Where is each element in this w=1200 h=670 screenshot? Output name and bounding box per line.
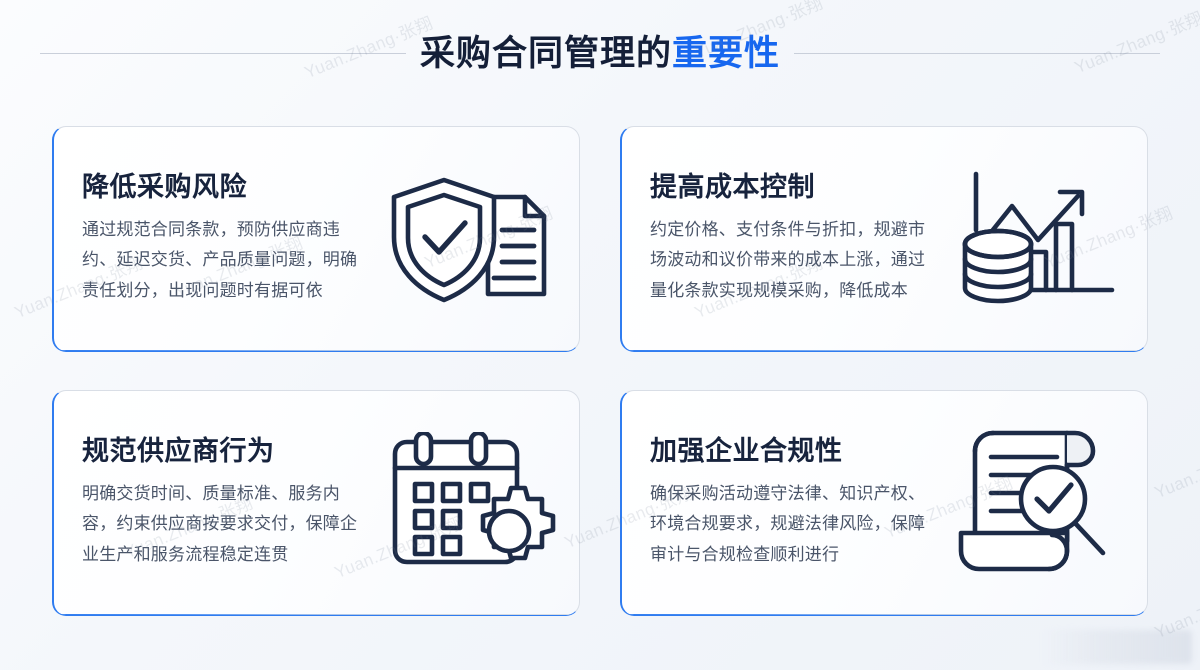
page-header: 采购合同管理的重要性: [0, 0, 1200, 106]
card-title: 提高成本控制: [650, 172, 926, 203]
corner-watermark-blur: [1042, 630, 1192, 664]
card-description: 明确交货时间、质量标准、服务内容，约束供应商按要求交付，保障企业生产和服务流程稳…: [82, 479, 358, 570]
coins-growth-chart-icon: [932, 127, 1147, 351]
page-title-accent: 重要性: [672, 34, 780, 73]
benefit-card-compliance[interactable]: 加强企业合规性 确保采购活动遵守法律、知识产权、环境合规要求，规避法律风险，保障…: [620, 390, 1148, 616]
scroll-magnifier-check-icon: [932, 391, 1147, 615]
benefit-card-grid: 降低采购风险 通过规范合同条款，预防供应商违约、延迟交货、产品质量问题，明确责任…: [52, 126, 1148, 616]
card-title: 规范供应商行为: [82, 436, 358, 467]
watermark-text: Yuan.Zhang·张翔: [1150, 569, 1200, 643]
card-description: 通过规范合同条款，预防供应商违约、延迟交货、产品质量问题，明确责任划分，出现问题…: [82, 215, 358, 306]
header-divider-left: [40, 53, 406, 54]
page-title-main: 采购合同管理的: [420, 34, 672, 73]
watermark-text: Yuan.Zhang·张翔: [1150, 429, 1200, 503]
card-title: 加强企业合规性: [650, 436, 926, 467]
card-text-block: 规范供应商行为 明确交货时间、质量标准、服务内容，约束供应商按要求交付，保障企业…: [54, 436, 364, 570]
card-text-block: 加强企业合规性 确保采购活动遵守法律、知识产权、环境合规要求，规避法律风险，保障…: [622, 436, 932, 570]
calendar-gear-icon: [364, 391, 579, 615]
header-divider-right: [794, 53, 1160, 54]
card-description: 确保采购活动遵守法律、知识产权、环境合规要求，规避法律风险，保障审计与合规检查顺…: [650, 479, 926, 570]
benefit-card-supplier-behavior[interactable]: 规范供应商行为 明确交货时间、质量标准、服务内容，约束供应商按要求交付，保障企业…: [52, 390, 580, 616]
card-description: 约定价格、支付条件与折扣，规避市场波动和议价带来的成本上涨，通过量化条款实现规模…: [650, 215, 926, 306]
card-title: 降低采购风险: [82, 172, 358, 203]
card-text-block: 提高成本控制 约定价格、支付条件与折扣，规避市场波动和议价带来的成本上涨，通过量…: [622, 172, 932, 306]
card-text-block: 降低采购风险 通过规范合同条款，预防供应商违约、延迟交货、产品质量问题，明确责任…: [54, 172, 364, 306]
page-title: 采购合同管理的重要性: [406, 36, 794, 71]
benefit-card-cost-control[interactable]: 提高成本控制 约定价格、支付条件与折扣，规避市场波动和议价带来的成本上涨，通过量…: [620, 126, 1148, 352]
shield-check-document-icon: [364, 127, 579, 351]
benefit-card-reduce-risk[interactable]: 降低采购风险 通过规范合同条款，预防供应商违约、延迟交货、产品质量问题，明确责任…: [52, 126, 580, 352]
